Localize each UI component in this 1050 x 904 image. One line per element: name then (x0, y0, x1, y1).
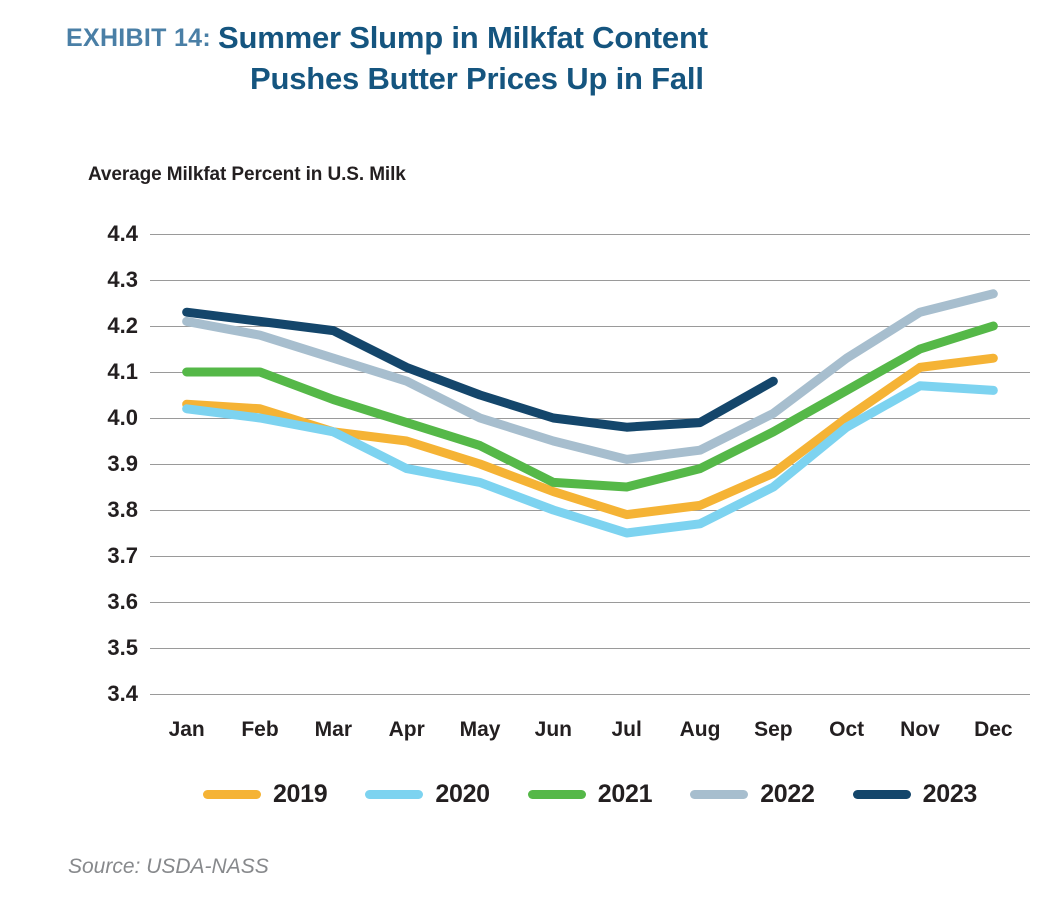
legend-swatch-2021 (528, 790, 586, 799)
y-axis-tick-label: 3.5 (66, 635, 138, 661)
legend-swatch-2022 (690, 790, 748, 799)
legend-item-2022[interactable]: 2022 (690, 780, 814, 809)
y-axis-tick-label: 4.4 (66, 221, 138, 247)
y-axis-tick-label: 4.3 (66, 267, 138, 293)
y-axis-tick-label: 3.4 (66, 681, 138, 707)
x-axis-tick-label: Feb (241, 718, 278, 742)
gridline (150, 694, 1030, 695)
x-axis-tick-label: Dec (974, 718, 1013, 742)
legend-label-2021: 2021 (598, 780, 652, 809)
series-line-2020 (187, 386, 994, 533)
x-axis-tick-label: Oct (829, 718, 864, 742)
chart-series-lines (150, 234, 1030, 694)
legend-swatch-2020 (365, 790, 423, 799)
x-axis-tick-label: Sep (754, 718, 793, 742)
chart-container: 4.44.34.24.14.03.93.83.73.63.53.4 JanFeb… (0, 0, 1050, 904)
legend-swatch-2019 (203, 790, 261, 799)
y-axis-tick-label: 3.7 (66, 543, 138, 569)
series-line-2019 (187, 358, 994, 514)
x-axis-tick-label: Mar (315, 718, 352, 742)
legend-label-2022: 2022 (760, 780, 814, 809)
legend-swatch-2023 (853, 790, 911, 799)
x-axis-tick-label: May (460, 718, 501, 742)
y-axis-tick-label: 4.1 (66, 359, 138, 385)
legend-item-2020[interactable]: 2020 (365, 780, 489, 809)
source-note: Source: USDA-NASS (68, 855, 269, 879)
x-axis-labels: JanFebMarAprMayJunJulAugSepOctNovDec (150, 718, 1030, 752)
y-axis-tick-label: 4.2 (66, 313, 138, 339)
x-axis-tick-label: Jun (535, 718, 572, 742)
y-axis-tick-label: 3.6 (66, 589, 138, 615)
x-axis-tick-label: Aug (680, 718, 721, 742)
y-axis-tick-label: 4.0 (66, 405, 138, 431)
y-axis-tick-label: 3.9 (66, 451, 138, 477)
y-axis-tick-label: 3.8 (66, 497, 138, 523)
chart-legend: 20192020202120222023 (150, 780, 1030, 809)
chart-page: EXHIBIT 14:Summer Slump in Milkfat Conte… (0, 0, 1050, 904)
legend-label-2020: 2020 (435, 780, 489, 809)
x-axis-tick-label: Apr (389, 718, 425, 742)
legend-label-2019: 2019 (273, 780, 327, 809)
legend-item-2019[interactable]: 2019 (203, 780, 327, 809)
x-axis-tick-label: Nov (900, 718, 940, 742)
x-axis-tick-label: Jan (169, 718, 205, 742)
legend-label-2023: 2023 (923, 780, 977, 809)
legend-item-2021[interactable]: 2021 (528, 780, 652, 809)
legend-item-2023[interactable]: 2023 (853, 780, 977, 809)
x-axis-tick-label: Jul (611, 718, 641, 742)
